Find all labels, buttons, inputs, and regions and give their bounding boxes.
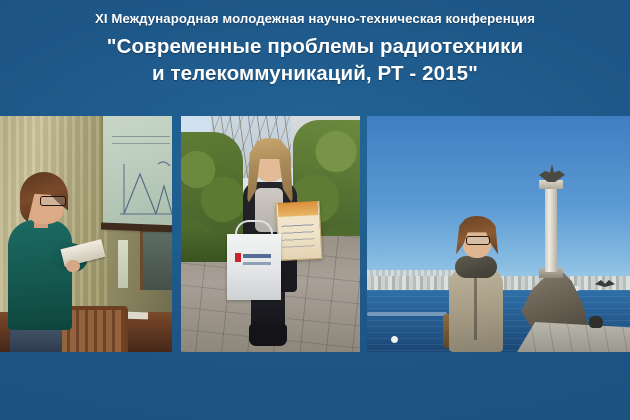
- diploma-text-lines: [281, 221, 314, 251]
- participant-boots: [249, 324, 287, 346]
- jacket-zipper: [474, 274, 477, 340]
- participant-scarf: [455, 256, 497, 278]
- perched-gull-icon: [589, 316, 603, 328]
- slide-diagram: [118, 156, 172, 222]
- photo-gallery: [0, 116, 630, 352]
- presenter-hand: [66, 260, 80, 272]
- monument-column: [545, 188, 557, 272]
- conference-banner: XI Международная молодежная научно-техни…: [0, 0, 630, 420]
- conference-title-line-2: и телекоммуникаций, РТ - 2015": [0, 60, 630, 87]
- sea-foam: [367, 312, 447, 316]
- window-light: [118, 240, 128, 288]
- photo-presenter-at-screen: [0, 116, 172, 352]
- stone-quay: [517, 322, 630, 352]
- photo-participant-at-monument: [367, 116, 630, 352]
- tote-bag-logo-subtext: [243, 262, 271, 265]
- eyeglasses-icon: [40, 196, 66, 206]
- presenter-torso: [8, 220, 72, 330]
- room-window: [140, 228, 172, 290]
- conference-subtitle-line: XI Международная молодежная научно-техни…: [0, 0, 630, 28]
- conference-title-line-1: "Современные проблемы радиотехники: [0, 28, 630, 60]
- banner-header: XI Международная молодежная научно-техни…: [0, 0, 630, 112]
- sea-buoy: [391, 336, 398, 343]
- tote-bag-logo: [235, 253, 273, 262]
- photo-participant-with-diploma: [181, 116, 360, 352]
- tote-bag: [227, 234, 281, 300]
- slide-text-lines: [112, 132, 170, 148]
- diploma-header-band: [278, 201, 319, 217]
- eyeglasses-icon: [466, 236, 490, 245]
